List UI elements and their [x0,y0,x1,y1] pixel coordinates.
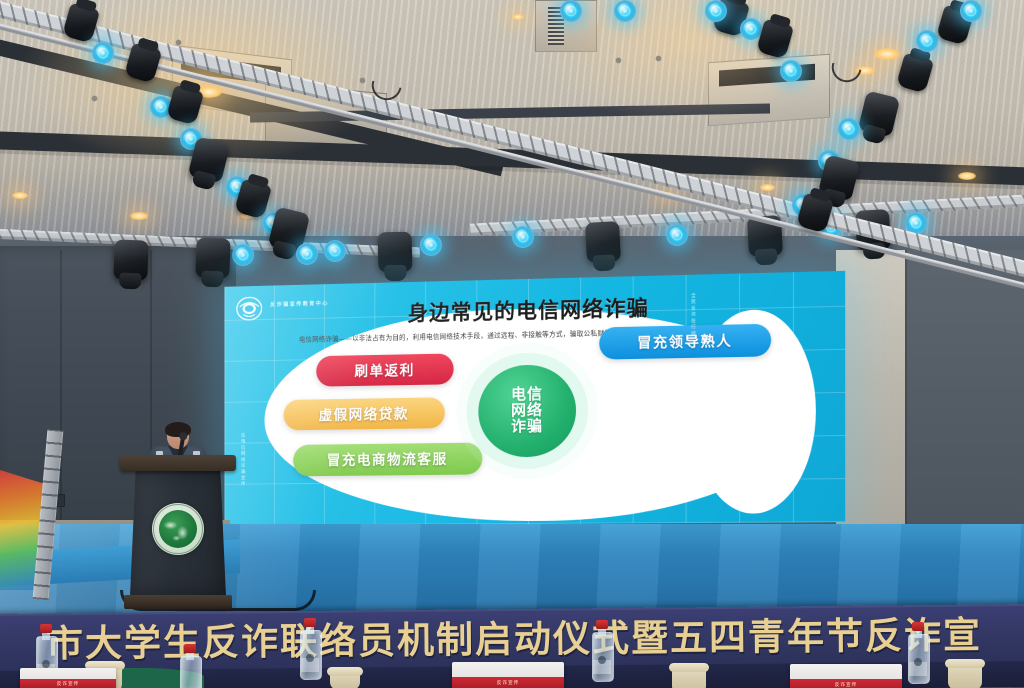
moving-head-light-b5 [195,237,230,278]
podium-top-surface [120,455,236,471]
event-banner-text: 市大学生反诈联络员机制启动仪式暨五四青年节反诈宣 [0,611,1024,669]
sprinkler-icon-5 [656,56,661,61]
emblem-globe [159,510,197,548]
wall-seam-3 [905,250,907,550]
water-bottle-4 [908,622,928,684]
par-light-1 [92,42,114,64]
name-card-1-text: 反诈宣传 [452,677,564,688]
downlight-2 [874,48,900,60]
par-light-10 [838,118,860,140]
moving-head-light-b4 [113,239,148,280]
downlight-8 [760,184,775,191]
downlight-5 [12,192,28,199]
name-card-2-strip: 反诈宣传 [790,679,902,688]
par-light-b7 [232,244,254,266]
fraud-type-pill-loan[interactable]: 虚假网络贷款 [284,397,445,430]
par-light-7 [740,18,762,40]
name-card-2-text: 反诈宣传 [790,679,902,688]
name-card-1: 反诈宣传 [452,662,564,688]
moving-head-light-b6 [378,232,413,273]
sprinkler-icon-3 [360,78,365,83]
water-bottle-2 [300,618,320,680]
screenshot-root: 反诈骗宣传教育中心 身边常见的电信网络诈骗 电信网络诈骗——以非法占有为目的，利… [0,0,1024,688]
downlight-7 [958,172,976,180]
par-light-15 [916,30,938,52]
tea-cup-3 [672,668,706,688]
par-light-6 [296,243,318,265]
par-light-14 [560,0,582,22]
water-bottle-5 [180,646,200,688]
par-light-b5 [324,240,346,262]
downlight-10 [512,14,524,20]
name-card-3: 反诈宣传 [20,668,116,688]
fraud-type-pill-shuadan[interactable]: 刷单返利 [316,353,453,386]
slide-side-text-right: 全民反诈在行动 [688,293,697,370]
par-light-13 [614,0,636,22]
green-globe-emblem-icon [152,503,204,555]
par-light-b4 [512,226,534,248]
par-light-b1 [666,224,688,246]
fraud-type-pill-logistics[interactable]: 冒充电商物流客服 [293,443,482,477]
tea-cup-4 [948,664,982,688]
name-card-2: 反诈宣传 [790,664,902,688]
sprinkler-icon-1 [176,40,181,45]
podium-base [124,595,232,609]
water-bottle-3 [592,620,612,682]
core-line-3: 诈骗 [511,419,543,435]
tea-cup-2 [330,672,360,688]
par-light-b6 [420,234,442,256]
podium [126,455,230,613]
fraud-type-pill-impersonation[interactable]: 冒充领导熟人 [599,324,771,360]
slide-side-text-left: 反电信网络诈骗宣传 [238,433,246,503]
wall-right-dark-panel [905,250,1024,566]
moving-head-light-b3 [585,221,621,263]
name-card-3-text: 反诈宣传 [20,679,116,688]
sprinkler-icon-4 [616,58,621,63]
sprinkler-icon-2 [92,96,97,101]
par-light-8 [705,0,727,22]
led-presentation-screen[interactable]: 反诈骗宣传教育中心 身边常见的电信网络诈骗 电信网络诈骗——以非法占有为目的，利… [224,271,845,526]
downlight-4 [130,212,148,220]
name-card-3-strip: 反诈宣传 [20,679,116,688]
name-card-1-strip: 反诈宣传 [452,677,564,688]
par-light-16 [960,0,982,22]
par-light-9 [780,60,802,82]
